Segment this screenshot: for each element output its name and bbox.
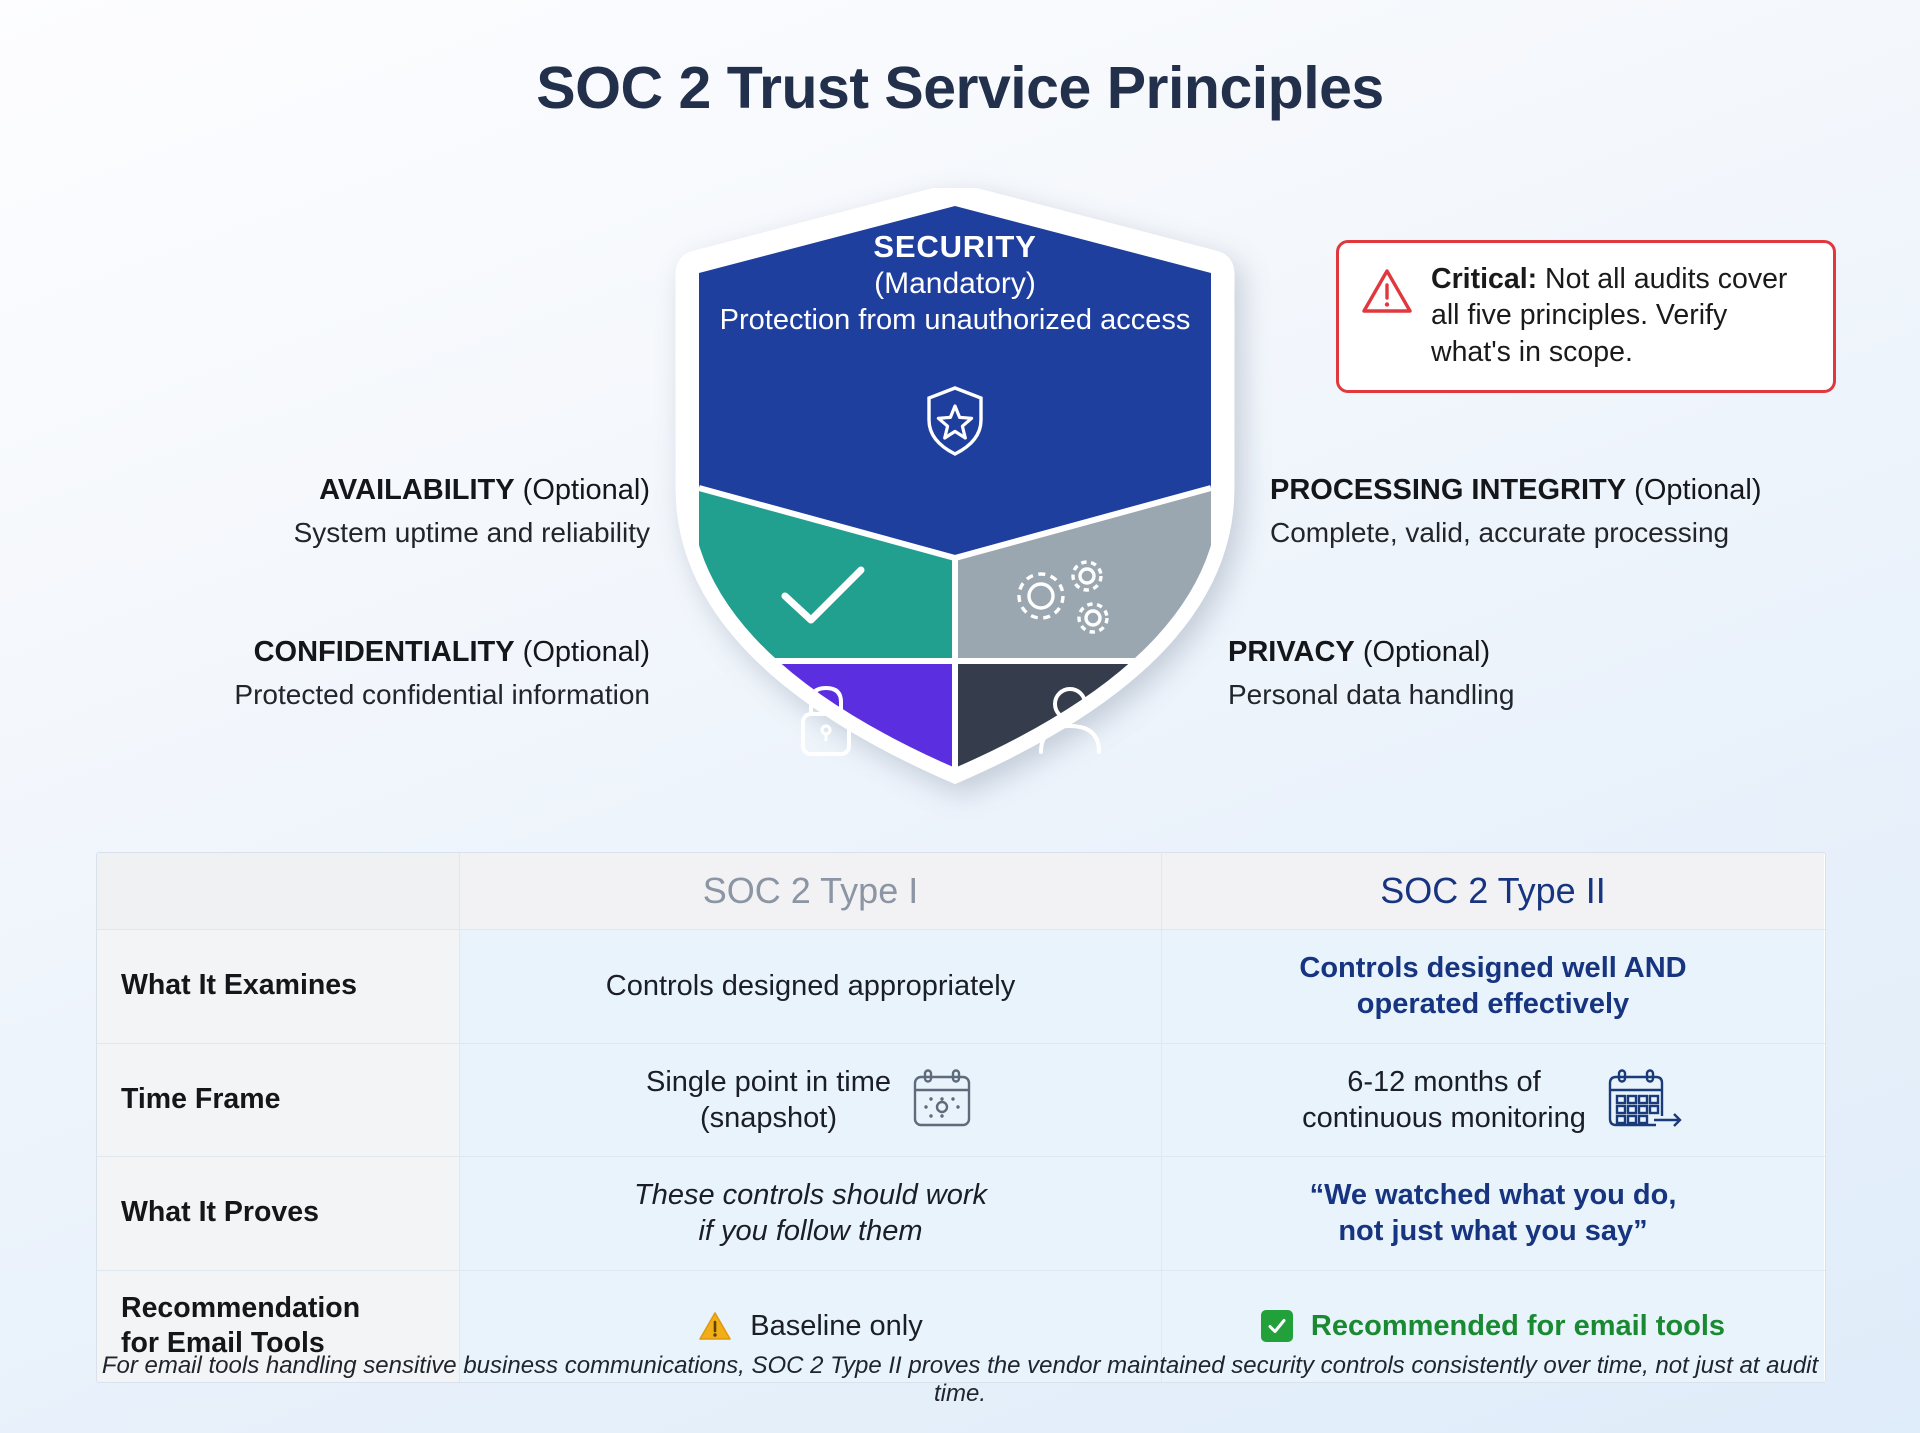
row-type1-line2: if you follow them xyxy=(634,1213,987,1249)
row-type2-value: Controls designed well AND operated effe… xyxy=(1299,950,1686,1023)
table-header-type2: SOC 2 Type II xyxy=(1162,853,1824,929)
warning-triangle-icon xyxy=(1361,267,1413,315)
label-availability-head: AVAILABILITY (Optional) xyxy=(140,472,650,510)
row-type2-line1: “We watched what you do, xyxy=(1310,1177,1677,1213)
segment-confidentiality xyxy=(699,664,955,788)
row-type1-cell: Single point in time (snapshot) xyxy=(460,1044,1162,1157)
row-type1-value: Baseline only xyxy=(750,1310,923,1343)
table-row: What It Examines Controls designed appro… xyxy=(97,930,1825,1044)
label-processing-head: PROCESSING INTEGRITY (Optional) xyxy=(1270,472,1870,510)
row-type2-line1: 6-12 months of xyxy=(1302,1064,1586,1100)
label-availability-name: AVAILABILITY xyxy=(319,474,514,506)
row-type1-value: Controls designed appropriately xyxy=(606,968,1015,1004)
row-type1-value: These controls should work if you follow… xyxy=(634,1177,987,1250)
row-type2-cell: “We watched what you do, not just what y… xyxy=(1162,1157,1824,1270)
label-confidentiality: CONFIDENTIALITY (Optional) Protected con… xyxy=(110,634,650,713)
label-confidentiality-status: (Optional) xyxy=(523,636,650,668)
table-header-row: SOC 2 Type I SOC 2 Type II xyxy=(97,853,1825,930)
label-privacy-head: PRIVACY (Optional) xyxy=(1228,634,1828,672)
trust-principles-shield: SECURITY (Mandatory) Protection from una… xyxy=(655,188,1255,788)
label-processing-desc: Complete, valid, accurate processing xyxy=(1270,515,1870,551)
label-availability: AVAILABILITY (Optional) System uptime an… xyxy=(140,472,650,551)
row-type1-cell: Controls designed appropriately xyxy=(460,930,1162,1043)
table-header-type1: SOC 2 Type I xyxy=(460,853,1162,929)
row-type1-line2: (snapshot) xyxy=(646,1100,891,1136)
page-title: SOC 2 Trust Service Principles xyxy=(0,54,1920,122)
segment-privacy xyxy=(955,664,1211,788)
row-type2-line2: continuous monitoring xyxy=(1302,1100,1586,1136)
label-availability-desc: System uptime and reliability xyxy=(140,515,650,551)
label-processing-integrity: PROCESSING INTEGRITY (Optional) Complete… xyxy=(1270,472,1870,551)
label-confidentiality-desc: Protected confidential information xyxy=(110,677,650,713)
callout-text: Critical: Not all audits cover all five … xyxy=(1431,261,1811,370)
row-label-cell: What It Proves xyxy=(97,1157,460,1270)
row-label: What It Proves xyxy=(121,1195,319,1231)
row-type2-cell: 6-12 months of continuous monitoring xyxy=(1162,1044,1824,1157)
table-row: Time Frame Single point in time (snapsho… xyxy=(97,1044,1825,1158)
table-header-blank xyxy=(97,853,460,929)
row-type1-line1: These controls should work xyxy=(634,1177,987,1213)
row-label: What It Examines xyxy=(121,968,357,1004)
label-processing-status: (Optional) xyxy=(1634,474,1761,506)
label-confidentiality-head: CONFIDENTIALITY (Optional) xyxy=(110,634,650,672)
calendar-continuous-icon xyxy=(1604,1068,1684,1132)
row-label-cell: Time Frame xyxy=(97,1044,460,1157)
warning-emoji-icon xyxy=(698,1311,732,1342)
row-type2-line2: operated effectively xyxy=(1299,986,1686,1022)
soc2-comparison-table: SOC 2 Type I SOC 2 Type II What It Exami… xyxy=(96,852,1826,1383)
critical-callout: Critical: Not all audits cover all five … xyxy=(1336,240,1836,393)
row-type1-line1: Single point in time xyxy=(646,1064,891,1100)
row-type2-value: “We watched what you do, not just what y… xyxy=(1310,1177,1677,1250)
label-availability-status: (Optional) xyxy=(523,474,650,506)
label-processing-name: PROCESSING INTEGRITY xyxy=(1270,474,1626,506)
row-type2-line2: not just what you say” xyxy=(1310,1213,1677,1249)
callout-lead: Critical: xyxy=(1431,263,1537,295)
label-privacy: PRIVACY (Optional) Personal data handlin… xyxy=(1228,634,1828,713)
shield-outline xyxy=(655,188,1255,788)
row-type2-value: Recommended for email tools xyxy=(1311,1310,1725,1343)
table-header-type1-label: SOC 2 Type I xyxy=(703,870,918,912)
calendar-single-date-icon xyxy=(909,1068,975,1132)
row-type1-cell: These controls should work if you follow… xyxy=(460,1157,1162,1270)
table-row: What It Proves These controls should wor… xyxy=(97,1157,1825,1271)
segment-security xyxy=(699,206,1211,558)
green-check-emoji-icon xyxy=(1261,1310,1293,1342)
row-type2-cell: Controls designed well AND operated effe… xyxy=(1162,930,1824,1043)
row-type2-line1: Controls designed well AND xyxy=(1299,950,1686,986)
label-confidentiality-name: CONFIDENTIALITY xyxy=(254,636,515,668)
label-privacy-name: PRIVACY xyxy=(1228,636,1355,668)
table-header-type2-label: SOC 2 Type II xyxy=(1380,870,1605,912)
row-label-cell: What It Examines xyxy=(97,930,460,1043)
row-type2-value: 6-12 months of continuous monitoring xyxy=(1302,1064,1586,1137)
label-privacy-status: (Optional) xyxy=(1363,636,1490,668)
label-privacy-desc: Personal data handling xyxy=(1228,677,1828,713)
row-label: Time Frame xyxy=(121,1082,280,1118)
footnote: For email tools handling sensitive busin… xyxy=(96,1352,1824,1408)
row-type1-value: Single point in time (snapshot) xyxy=(646,1064,891,1137)
